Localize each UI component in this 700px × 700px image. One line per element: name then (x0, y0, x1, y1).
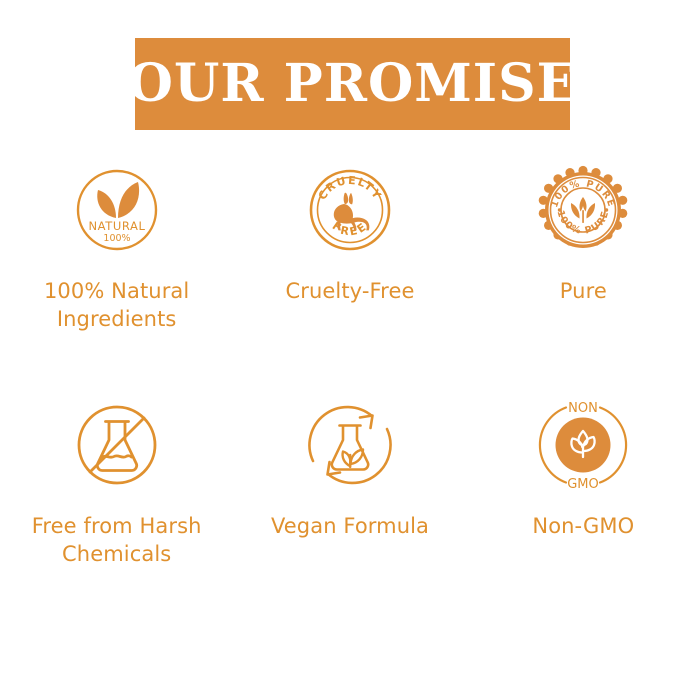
promise-label-natural: 100% Natural Ingredients (12, 278, 222, 333)
badge-bottom-text: GMO (568, 477, 600, 492)
promise-label-no-harsh-chemicals: Free from Harsh Chemicals (12, 513, 222, 568)
rabbit-cruelty-free-badge-icon: CRUELTY FREE (300, 160, 400, 260)
promise-item-natural[interactable]: NATURAL 100% 100% Natural Ingredients (0, 160, 233, 333)
header-banner: OUR PROMISE (135, 38, 570, 130)
promise-label-cruelty-free: Cruelty-Free (285, 278, 414, 306)
promise-item-no-harsh-chemicals[interactable]: Free from Harsh Chemicals (0, 395, 233, 568)
promise-label-vegan-formula: Vegan Formula (271, 513, 429, 541)
promise-item-non-gmo[interactable]: NON GMO Non-GMO (467, 395, 700, 568)
promise-item-vegan-formula[interactable]: Vegan Formula (233, 395, 466, 568)
starburst-seal-pure-badge-icon: 100% PURE 100% PURE (533, 160, 633, 260)
sprout-circle-non-gmo-icon: NON GMO (533, 395, 633, 495)
badge-top-text: NATURAL (88, 219, 145, 233)
promise-item-cruelty-free[interactable]: CRUELTY FREE Cruelty-Free (233, 160, 466, 333)
promise-infographic: OUR PROMISE NATURAL 100% 100% Natural In… (0, 0, 700, 700)
badge-bottom-text: 100% (103, 233, 130, 244)
promise-label-pure: Pure (560, 278, 607, 306)
promise-label-non-gmo: Non-GMO (532, 513, 634, 541)
promise-item-pure[interactable]: 100% PURE 100% PURE Pure (467, 160, 700, 333)
flask-leaf-recycle-arrows-icon (300, 395, 400, 495)
no-chemicals-flask-prohibition-icon (67, 395, 167, 495)
leaf-circle-natural-badge-icon: NATURAL 100% (67, 160, 167, 260)
badge-top-text: NON (568, 401, 598, 416)
page-title: OUR PROMISE (128, 58, 578, 110)
promise-grid: NATURAL 100% 100% Natural Ingredients CR… (0, 160, 700, 569)
